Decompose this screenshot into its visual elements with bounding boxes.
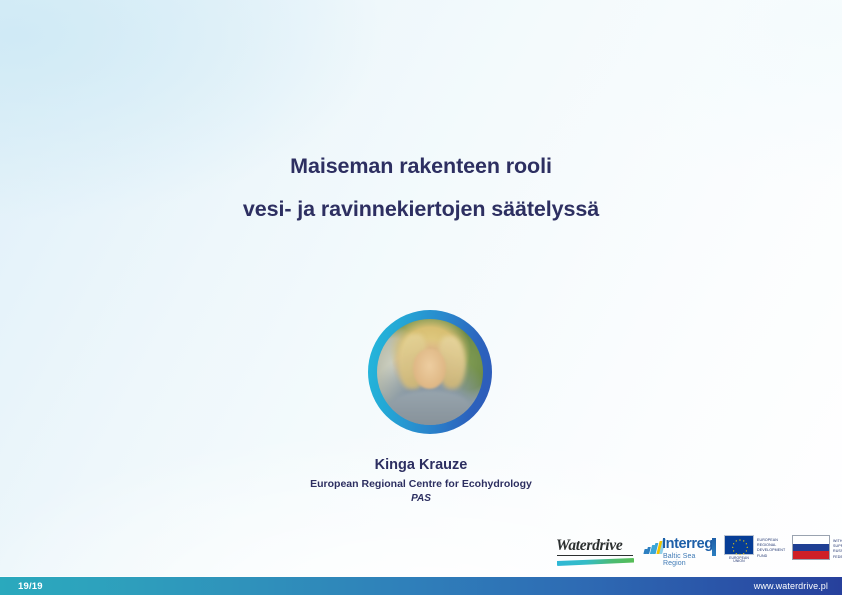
slide-title: Maiseman rakenteen rooli vesi- ja ravinn… [0,156,842,220]
russia-line-3: RUSSIAN [833,549,842,554]
slide-number: 19/19 [0,581,43,592]
author-name: Kinga Krauze [0,456,842,474]
russia-line-4: FEDERATION [833,555,842,560]
author-organization: European Regional Centre for Ecohydrolog… [0,477,842,491]
eu-flag-icon [724,535,754,555]
background-gradient [0,0,842,595]
russian-flag-icon [792,535,830,560]
eu-fund-caption: EUROPEAN REGIONAL DEVELOPMENT FUND [757,535,783,559]
interreg-subtitle: Baltic Sea Region [663,553,716,567]
waterdrive-underline [557,555,633,556]
eu-flag-caption: EUROPEAN UNION [724,557,754,565]
eu-logo: EUROPEAN UNION EUROPEAN REGIONAL DEVELOP… [724,535,784,569]
waterdrive-logo: Waterdrive [556,536,636,568]
russia-logo: WITH FINANCIAL SUPPORT OF THE RUSSIAN FE… [792,535,842,569]
title-line-2: vesi- ja ravinnekiertojen säätelyssä [0,199,842,221]
portrait-face [413,349,446,389]
russia-support-caption: WITH FINANCIAL SUPPORT OF THE RUSSIAN FE… [833,535,842,560]
author-credits: Kinga Krauze European Regional Centre fo… [0,456,842,505]
interreg-logo: Interreg Baltic Sea Region [644,536,716,568]
interreg-edge-bar [712,538,716,556]
portrait-body [390,391,471,425]
interreg-wordmark: Interreg [662,537,713,552]
author-affiliation: PAS [0,492,842,505]
eu-flag-column: EUROPEAN UNION [724,535,754,564]
footer-website[interactable]: www.waterdrive.pl [754,581,842,591]
presenter-portrait [368,310,492,434]
portrait-photo [377,319,483,425]
waterdrive-swoosh-icon [557,558,634,566]
interreg-bars-icon [644,539,663,554]
logo-strip: Waterdrive Interreg Baltic Sea Region [556,534,842,570]
title-line-1: Maiseman rakenteen rooli [0,156,842,178]
slide-footer: 19/19 www.waterdrive.pl [0,577,842,595]
eu-fund-line-4: FUND [757,554,783,559]
presentation-slide: Maiseman rakenteen rooli vesi- ja ravinn… [0,0,842,595]
eu-fund-line-3: DEVELOPMENT [757,548,783,553]
waterdrive-wordmark: Waterdrive [556,538,636,554]
